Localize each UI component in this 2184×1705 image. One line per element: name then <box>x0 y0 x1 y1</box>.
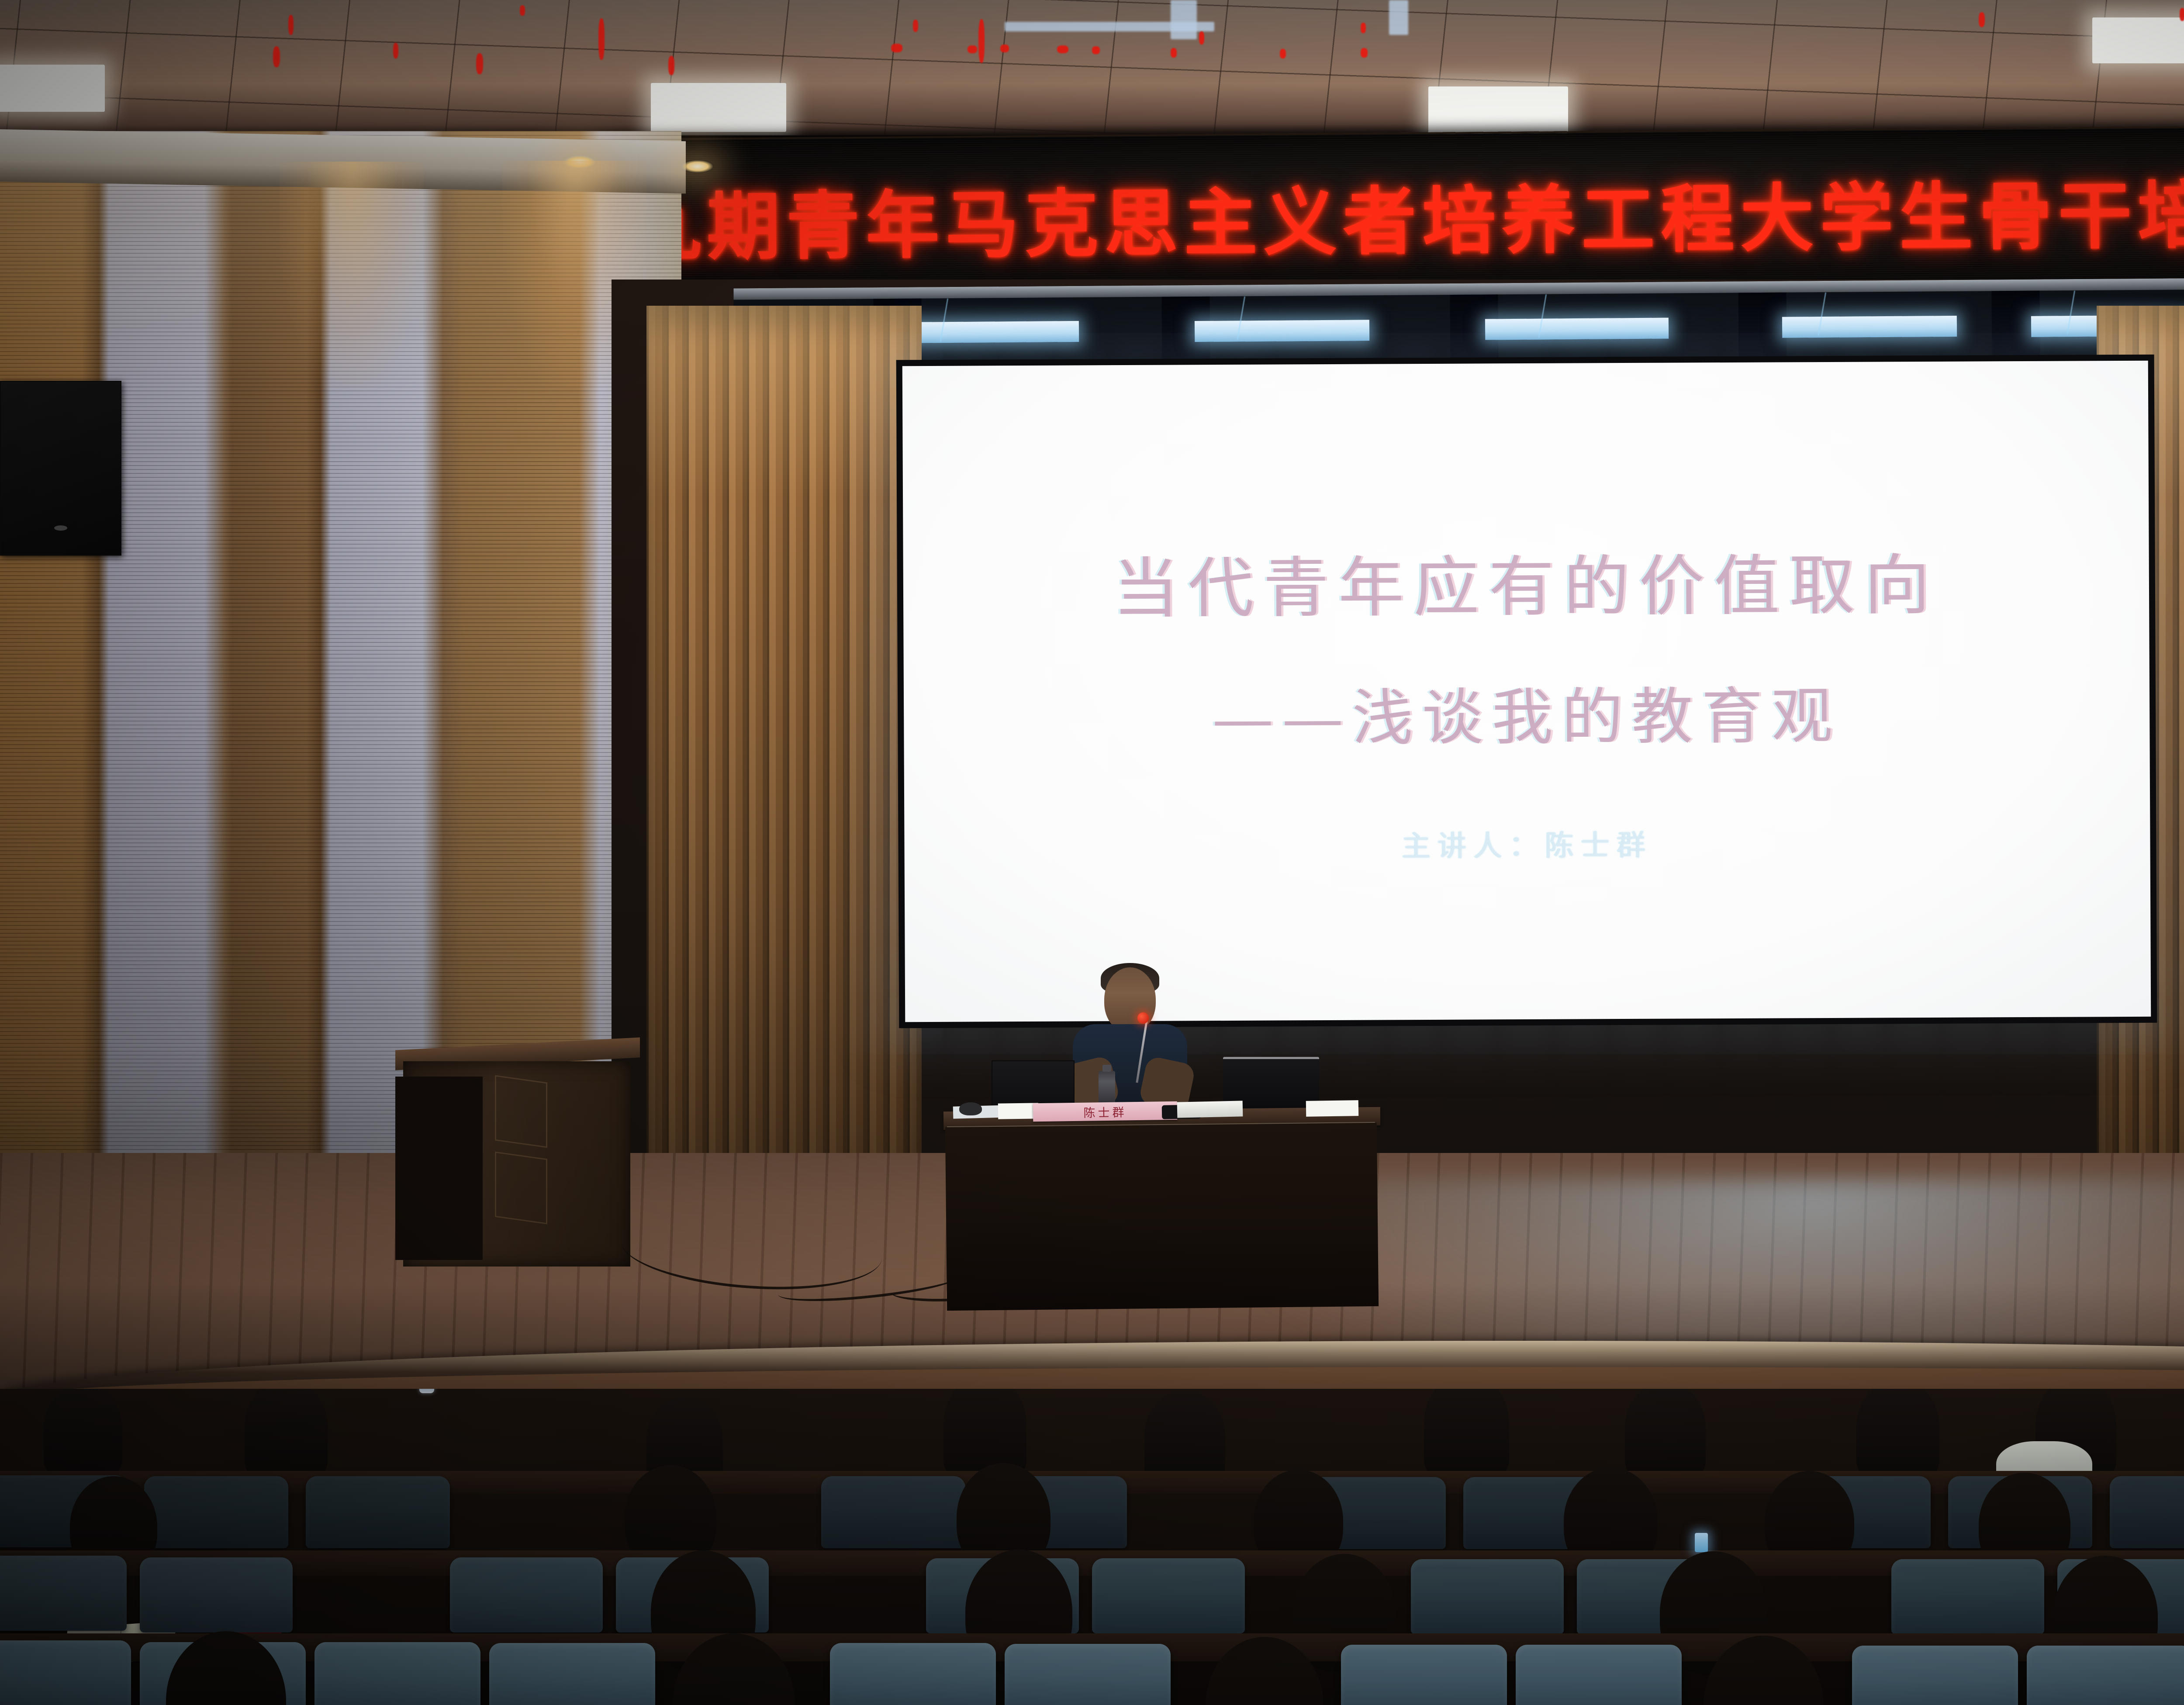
ceiling-grid <box>0 0 2184 135</box>
ceiling-red-reflection <box>1361 48 1368 58</box>
auditorium-seat <box>450 1557 603 1633</box>
ceiling-red-reflection <box>668 56 674 75</box>
ceiling-light <box>1428 86 1568 135</box>
projection-screen: 当代青年应有的价值取向 ——浅谈我的教育观 主讲人：陈士群 <box>896 355 2157 1029</box>
slide-presenter-line: 主讲人：陈士群 <box>904 820 2150 867</box>
ceiling-red-reflection <box>288 15 294 35</box>
ceiling <box>0 0 2184 135</box>
ceiling-red-reflection <box>1199 31 1204 45</box>
ceiling-red-reflection <box>1979 12 1985 27</box>
audience-member <box>1424 1389 1509 1478</box>
water-bottle <box>1099 1071 1115 1106</box>
auditorium-seat <box>1092 1558 1245 1633</box>
lectern-panel <box>495 1152 547 1225</box>
truss-light <box>1195 320 1369 342</box>
auditorium-seat <box>1891 1559 2044 1634</box>
slide-title: 当代青年应有的价值取向 <box>903 531 2149 631</box>
ceiling-light <box>0 65 105 112</box>
auditorium-seat <box>0 1640 131 1705</box>
ceiling-downlight <box>681 160 714 173</box>
auditorium-seat <box>1852 1646 2018 1705</box>
auditorium-seat <box>1005 1644 1171 1705</box>
ceiling-red-reflection <box>1361 23 1366 33</box>
audience-member <box>44 1389 122 1476</box>
ceiling-red-reflection <box>598 18 605 60</box>
audience-member <box>245 1389 328 1478</box>
ceiling-red-reflection <box>1000 45 1009 52</box>
ceiling-red-reflection <box>1092 46 1100 54</box>
auditorium-seat <box>830 1643 996 1705</box>
ceiling-downlight <box>563 155 596 169</box>
water-bottle <box>419 1389 434 1393</box>
audience-member <box>1625 1389 1706 1478</box>
ceiling-red-reflection <box>1280 49 1286 59</box>
presenter-table: 陈士群 <box>943 1066 1380 1310</box>
auditorium-seat <box>1411 1559 1564 1634</box>
auditorium-seat <box>0 1556 127 1631</box>
ceiling-red-reflection <box>2180 8 2184 21</box>
auditorium-seat <box>2027 1646 2184 1705</box>
ceiling-red-reflection <box>1057 45 1068 53</box>
ceiling-red-reflection <box>891 44 902 52</box>
mouse <box>959 1102 982 1115</box>
ceiling-light <box>651 83 786 132</box>
table-front-panel <box>945 1123 1379 1311</box>
ceiling-blue-reflection <box>1389 0 1408 35</box>
ceiling-red-reflection <box>273 46 280 67</box>
stage-curtain-left <box>646 306 922 1179</box>
phone-screen <box>1695 1533 1708 1552</box>
name-placard: 陈士群 <box>1033 1101 1178 1122</box>
truss-fixture <box>1738 293 1787 358</box>
microphone-indicator-light <box>1137 1012 1149 1024</box>
ceiling-red-reflection <box>520 5 525 16</box>
lectern-panel <box>495 1075 547 1148</box>
papers <box>1177 1101 1243 1118</box>
presenter-head <box>1104 967 1156 1032</box>
auditorium-seat <box>144 1476 288 1548</box>
auditorium-seat <box>489 1643 655 1705</box>
audience-member <box>1856 1389 1939 1478</box>
ceiling-red-reflection <box>978 19 985 63</box>
ceiling-red-reflection <box>1171 48 1177 58</box>
ceiling-red-reflection <box>393 43 398 59</box>
white-card-right <box>1306 1100 1358 1117</box>
auditorium-seat <box>306 1476 450 1548</box>
lectern-shadow-face <box>395 1077 483 1260</box>
ceiling-red-reflection <box>968 45 977 53</box>
auditorium-seat <box>314 1642 480 1705</box>
wall-speaker <box>0 381 121 556</box>
auditorium-seat <box>821 1476 965 1548</box>
auditorium-seat <box>2110 1476 2184 1548</box>
auditorium-seat <box>140 1557 293 1633</box>
audience-area <box>0 1389 2184 1705</box>
truss-light <box>906 321 1079 343</box>
slide-subtitle: ——浅谈我的教育观 <box>904 666 2150 759</box>
truss-light <box>1782 316 1957 338</box>
ceiling-blue-reflection <box>1171 0 1197 39</box>
auditorium-seat <box>1341 1645 1507 1705</box>
auditorium-seat <box>1516 1645 1682 1705</box>
truss-light <box>1485 318 1669 340</box>
ceiling-light <box>2092 17 2184 63</box>
name-placard-text: 陈士群 <box>1033 1101 1178 1122</box>
projection-screen-surface: 当代青年应有的价值取向 ——浅谈我的教育观 主讲人：陈士群 <box>902 361 2151 1022</box>
ceiling-red-reflection <box>913 20 918 32</box>
white-card-left <box>998 1103 1038 1119</box>
auditorium-scene: 第十九期青年马克思主义者培养工程大学生骨干培训班专题报告 <box>0 0 2184 1705</box>
ceiling-red-reflection <box>476 53 483 74</box>
lectern <box>395 1044 640 1271</box>
